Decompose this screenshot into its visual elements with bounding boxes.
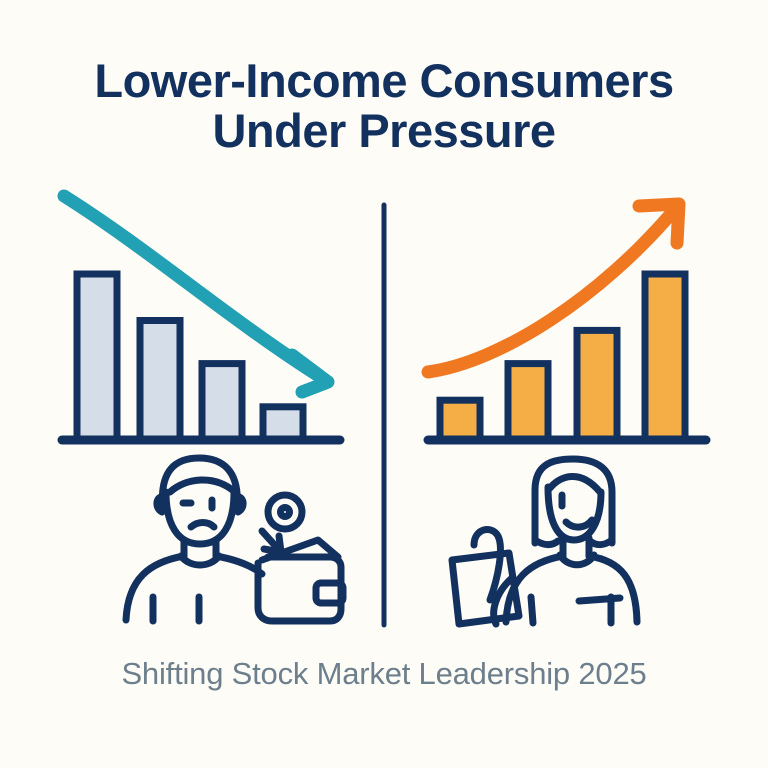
caption-text: Shifting Stock Market Leadership 2025 (0, 656, 768, 692)
right-panel-rising[interactable] (398, 190, 728, 630)
infographic-canvas: Lower-Income Consumers Under Pressure (0, 0, 768, 768)
left-panel-declining[interactable] (40, 190, 370, 630)
